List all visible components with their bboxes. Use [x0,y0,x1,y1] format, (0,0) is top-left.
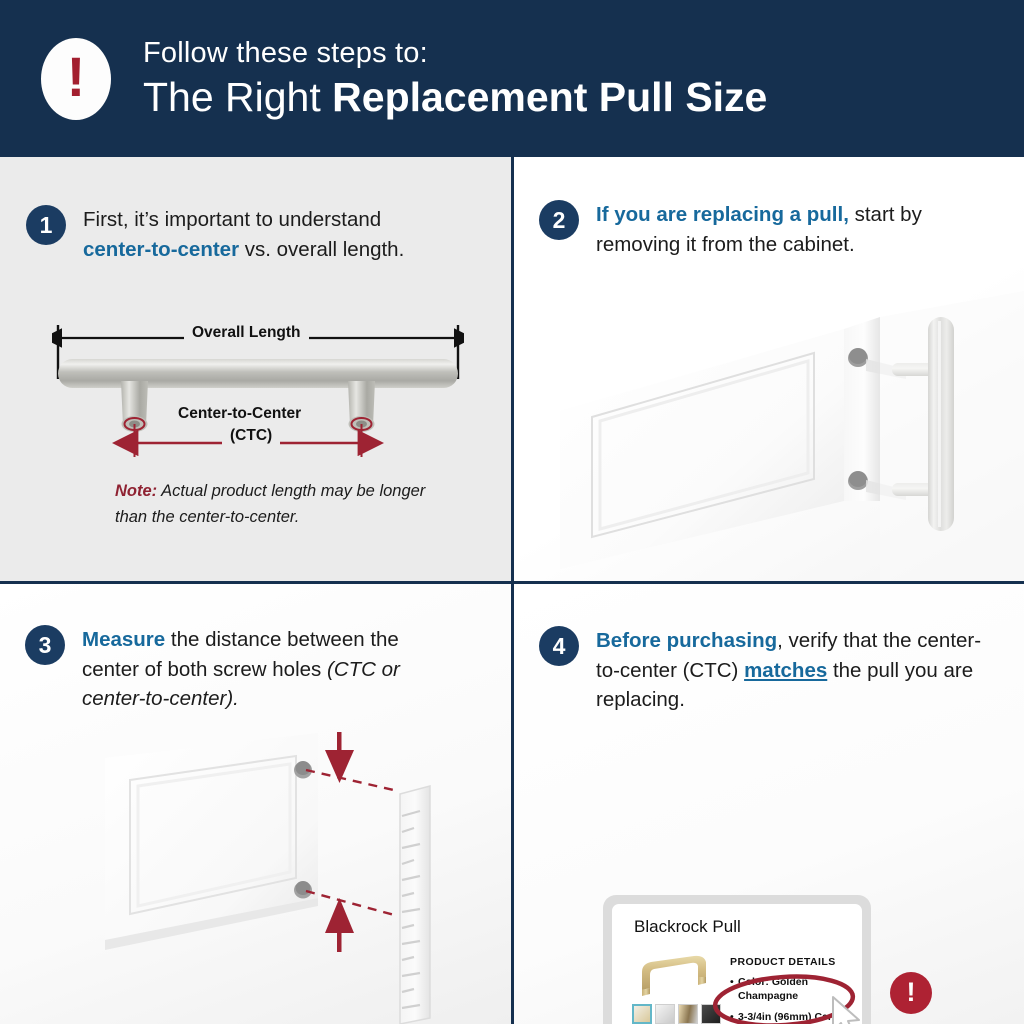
vertical-divider [511,157,514,1024]
step-2-text-accent: If you are replacing a pull, [596,203,849,226]
step-1-panel: 1 First, it’s important to understand ce… [0,157,511,581]
product-hero-image[interactable] [632,950,716,996]
step-4-text-link[interactable]: matches [744,659,827,682]
swatch-thumb-2[interactable] [655,1004,675,1024]
swatch-row[interactable] [632,1004,721,1024]
ctc-label-line1: Center-to-Center [170,405,309,423]
step-3-number: 3 [25,625,65,665]
header-banner: ! Follow these steps to: The Right Repla… [0,0,1024,157]
page-title-light: The Right [143,74,332,120]
step-1-text-accent: center-to-center [83,238,239,261]
overall-length-label: Overall Length [184,324,309,342]
step-4-text: Before purchasing, verify that the cente… [596,626,989,715]
measuring-illustration [0,728,511,1024]
cabinet-door-illustration [514,251,1024,581]
step-1-number: 1 [26,205,66,245]
step-2-panel: 2 If you are replacing a pull, start by … [514,157,1024,581]
step-1-text-part2: vs. overall length. [239,238,404,261]
step-1-heading: 1 First, it’s important to understand ce… [26,205,446,264]
step-2-number: 2 [539,200,579,240]
note-label: Note: [115,482,157,500]
infographic-page: ! Follow these steps to: The Right Repla… [0,0,1024,1024]
step-1-text: First, it’s important to understand cent… [83,205,446,264]
step-4-number: 4 [539,626,579,666]
mouse-cursor-icon [829,995,863,1024]
step-3-heading: 3 Measure the distance between the cente… [25,625,425,714]
step-1-text-part1: First, it’s important to understand [83,208,381,231]
exclamation-mark: ! [67,49,86,105]
alert-exclamation-icon: ! [890,972,932,1014]
exclamation-circle-icon: ! [41,38,111,120]
ctc-label-line2: (CTC) [222,427,280,445]
alert-exclamation-mark: ! [907,979,916,1006]
swatch-thumb-1[interactable] [632,1004,652,1024]
steps-grid: 1 First, it’s important to understand ce… [0,157,1024,1024]
note-text: Actual product length may be longer than… [115,482,425,526]
step-3-panel: 3 Measure the distance between the cente… [0,584,511,1024]
step-1-note: Note: Actual product length may be longe… [115,479,445,530]
step-3-text: Measure the distance between the center … [82,625,425,714]
header-eyebrow: Follow these steps to: [143,37,767,70]
header-text-block: Follow these steps to: The Right Replace… [143,37,767,119]
swatch-thumb-3[interactable] [678,1004,698,1024]
step-4-panel: 4 Before purchasing, verify that the cen… [514,584,1024,1024]
horizontal-divider [0,581,1024,584]
arrow-up-icon [325,898,354,952]
pull-dimension-diagram: Overall Length Center-to-Center (CTC) [52,317,464,457]
step-4-heading: 4 Before purchasing, verify that the cen… [539,626,989,715]
page-title-bold: Replacement Pull Size [332,74,767,120]
page-title: The Right Replacement Pull Size [143,76,767,119]
product-title: Blackrock Pull [634,917,741,937]
product-details-heading: PRODUCT DETAILS [730,956,836,968]
step-4-text-accent: Before purchasing [596,629,777,652]
step-3-text-accent: Measure [82,628,165,651]
product-page-monitor: Blackrock Pull [603,895,871,1024]
